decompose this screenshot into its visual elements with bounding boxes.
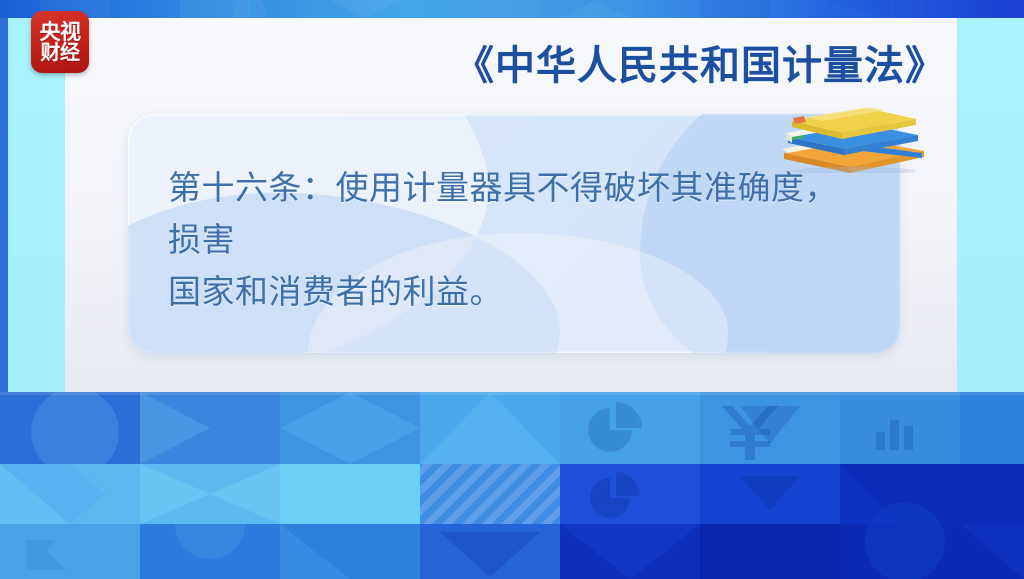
left-cyan-band	[8, 18, 65, 392]
broadcast-frame: 央视 财经 《中华人民共和国计量法》 第十六条：使用计量器具不得破坏其准确度，损…	[0, 0, 1024, 579]
footer-pattern	[0, 392, 1024, 579]
law-article-line-2: 国家和消费者的利益。	[168, 266, 868, 318]
law-article-text: 第十六条：使用计量器具不得破坏其准确度，损害 国家和消费者的利益。	[168, 162, 868, 318]
page-title: 《中华人民共和国计量法》	[440, 41, 960, 91]
right-cyan-band	[957, 18, 1024, 392]
footer-mosaic: 财经调查	[0, 392, 1024, 579]
book-stack-icon	[766, 101, 928, 173]
top-decorative-band	[0, 0, 1024, 18]
law-article-line-1: 第十六条：使用计量器具不得破坏其准确度，损害	[168, 168, 838, 259]
cctv-logo-line-2: 财经	[41, 42, 80, 63]
cctv-finance-logo: 央视 财经	[31, 11, 89, 73]
top-band-pattern	[0, 0, 1024, 18]
